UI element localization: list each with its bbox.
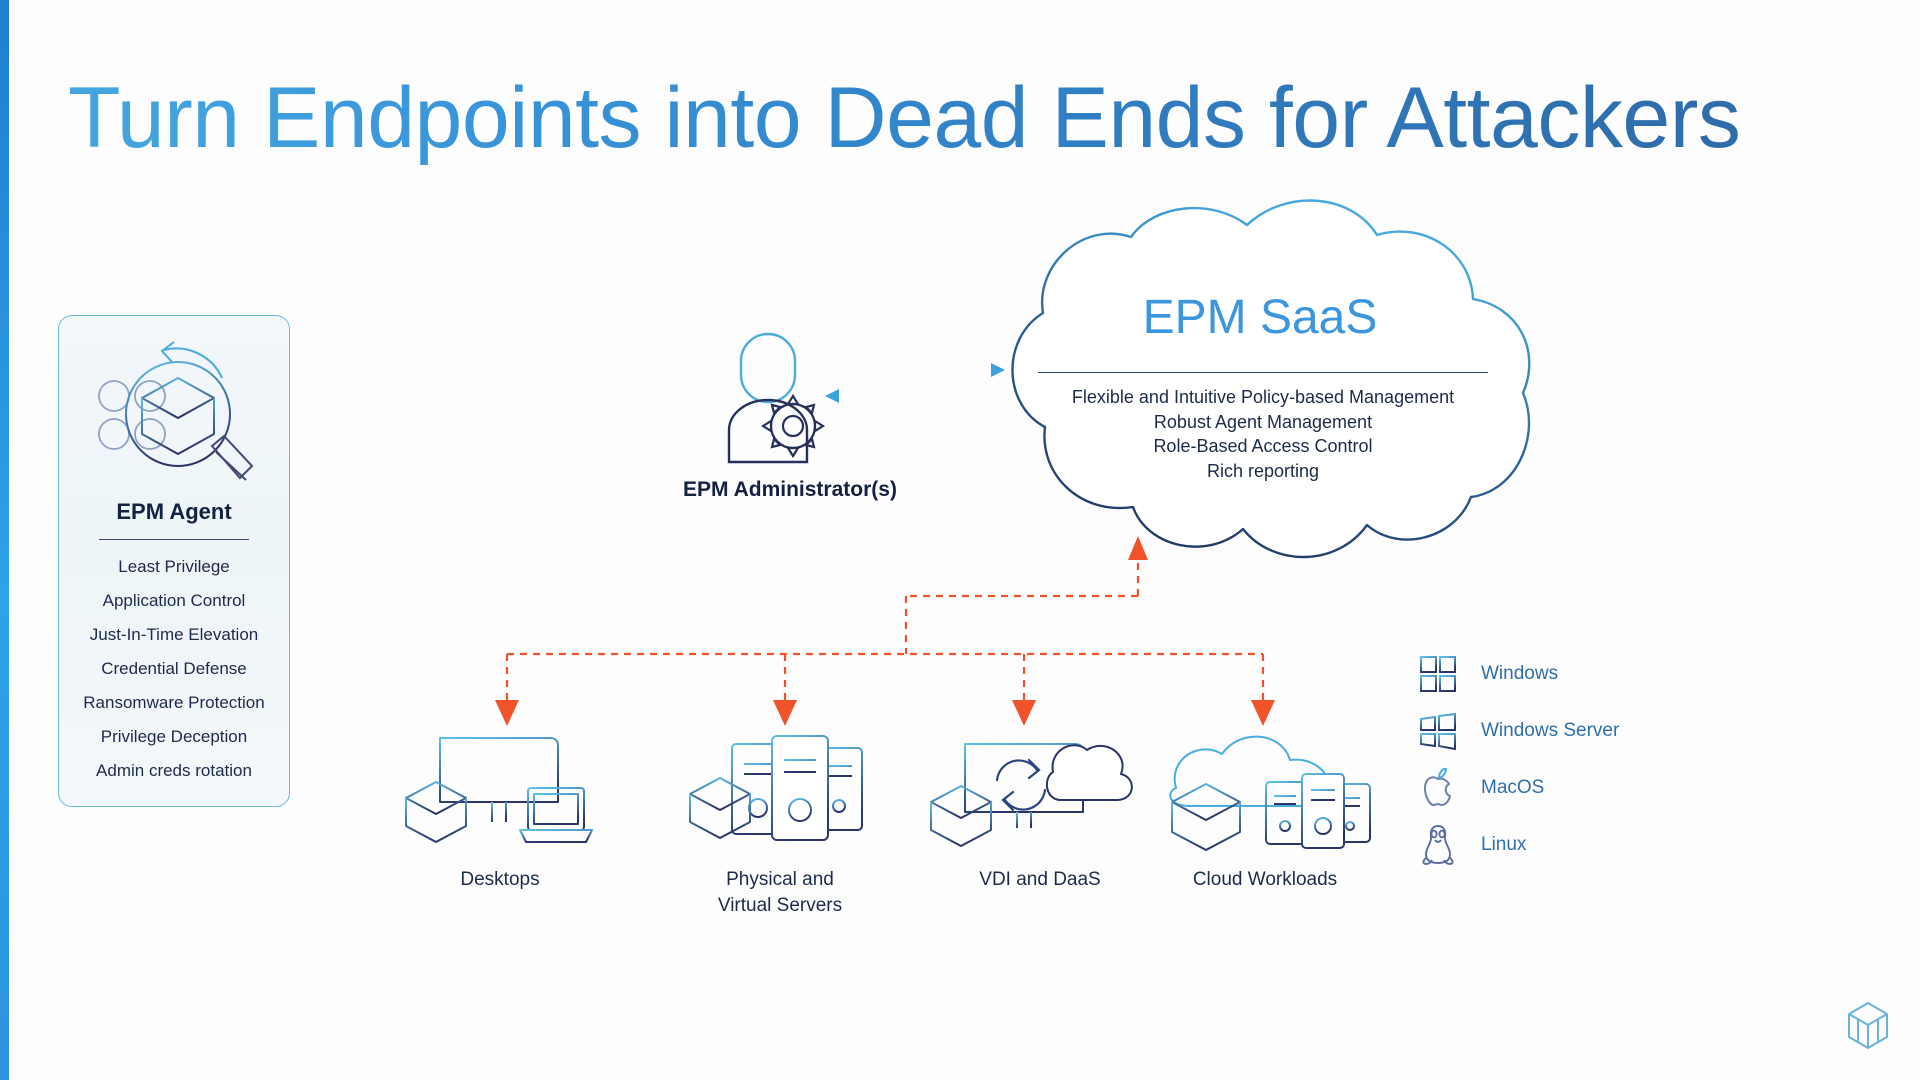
cloud-divider: [1038, 372, 1488, 373]
list-item: Application Control: [83, 584, 264, 618]
list-item: Least Privilege: [83, 550, 264, 584]
list-item: Role-Based Access Control: [1018, 434, 1508, 459]
linux-penguin-icon: [1415, 824, 1461, 866]
list-item: Robust Agent Management: [1018, 410, 1508, 435]
list-item: Flexible and Intuitive Policy-based Mana…: [1018, 385, 1508, 410]
epm-agent-card: EPM Agent Least Privilege Application Co…: [58, 315, 290, 807]
os-support-legend: Windows Windows Server MacOS: [1415, 645, 1619, 873]
list-item: Rich reporting: [1018, 459, 1508, 484]
list-item: Credential Defense: [83, 652, 264, 686]
list-item: Ransomware Protection: [83, 686, 264, 720]
endpoint-vdi-daas: VDI and DaaS: [910, 730, 1170, 893]
page-title: Turn Endpoints into Dead Ends for Attack…: [68, 68, 1740, 168]
legend-row-windows-server: Windows Server: [1415, 702, 1619, 759]
endpoint-servers: Physical and Virtual Servers: [670, 730, 890, 919]
endpoint-label: VDI and DaaS: [910, 867, 1170, 893]
endpoint-label: Desktops: [390, 867, 610, 893]
list-item: Admin creds rotation: [83, 754, 264, 788]
legend-label: MacOS: [1481, 777, 1544, 799]
windows-icon: [1415, 653, 1461, 695]
agent-capability-list: Least Privilege Application Control Just…: [83, 550, 264, 788]
endpoint-desktops: Desktops: [390, 730, 610, 893]
list-item: Just-In-Time Elevation: [83, 618, 264, 652]
legend-row-macos: MacOS: [1415, 759, 1619, 816]
epm-agent-title: EPM Agent: [116, 499, 231, 525]
apple-icon: [1415, 767, 1461, 809]
left-accent-bar: [0, 0, 9, 1080]
magnifier-cube-icon: [90, 338, 258, 493]
endpoint-label: Physical and Virtual Servers: [670, 867, 890, 919]
legend-label: Windows: [1481, 663, 1558, 685]
cloud-feature-list: Flexible and Intuitive Policy-based Mana…: [1018, 385, 1508, 483]
cloud-title: EPM SaaS: [1060, 290, 1460, 345]
cloud-servers-cube-icon: [1150, 730, 1380, 858]
list-item: Privilege Deception: [83, 720, 264, 754]
monitor-sync-cloud-cube-icon: [925, 730, 1155, 858]
endpoint-label-line1: Physical and: [726, 869, 834, 890]
legend-label: Windows Server: [1481, 720, 1619, 742]
server-tower-cube-icon: [680, 730, 880, 858]
admin-label: EPM Administrator(s): [640, 478, 940, 502]
legend-row-windows: Windows: [1415, 645, 1619, 702]
endpoint-cloud-workloads: Cloud Workloads: [1135, 730, 1395, 893]
agent-divider: [99, 539, 249, 540]
endpoint-label: Cloud Workloads: [1135, 867, 1395, 893]
endpoint-label-line2: Virtual Servers: [718, 895, 842, 916]
windows-server-icon: [1415, 710, 1461, 752]
cube-logo-icon: [1845, 1000, 1891, 1057]
legend-label: Linux: [1481, 834, 1526, 856]
legend-row-linux: Linux: [1415, 816, 1619, 873]
desktop-laptop-cube-icon: [400, 730, 600, 858]
